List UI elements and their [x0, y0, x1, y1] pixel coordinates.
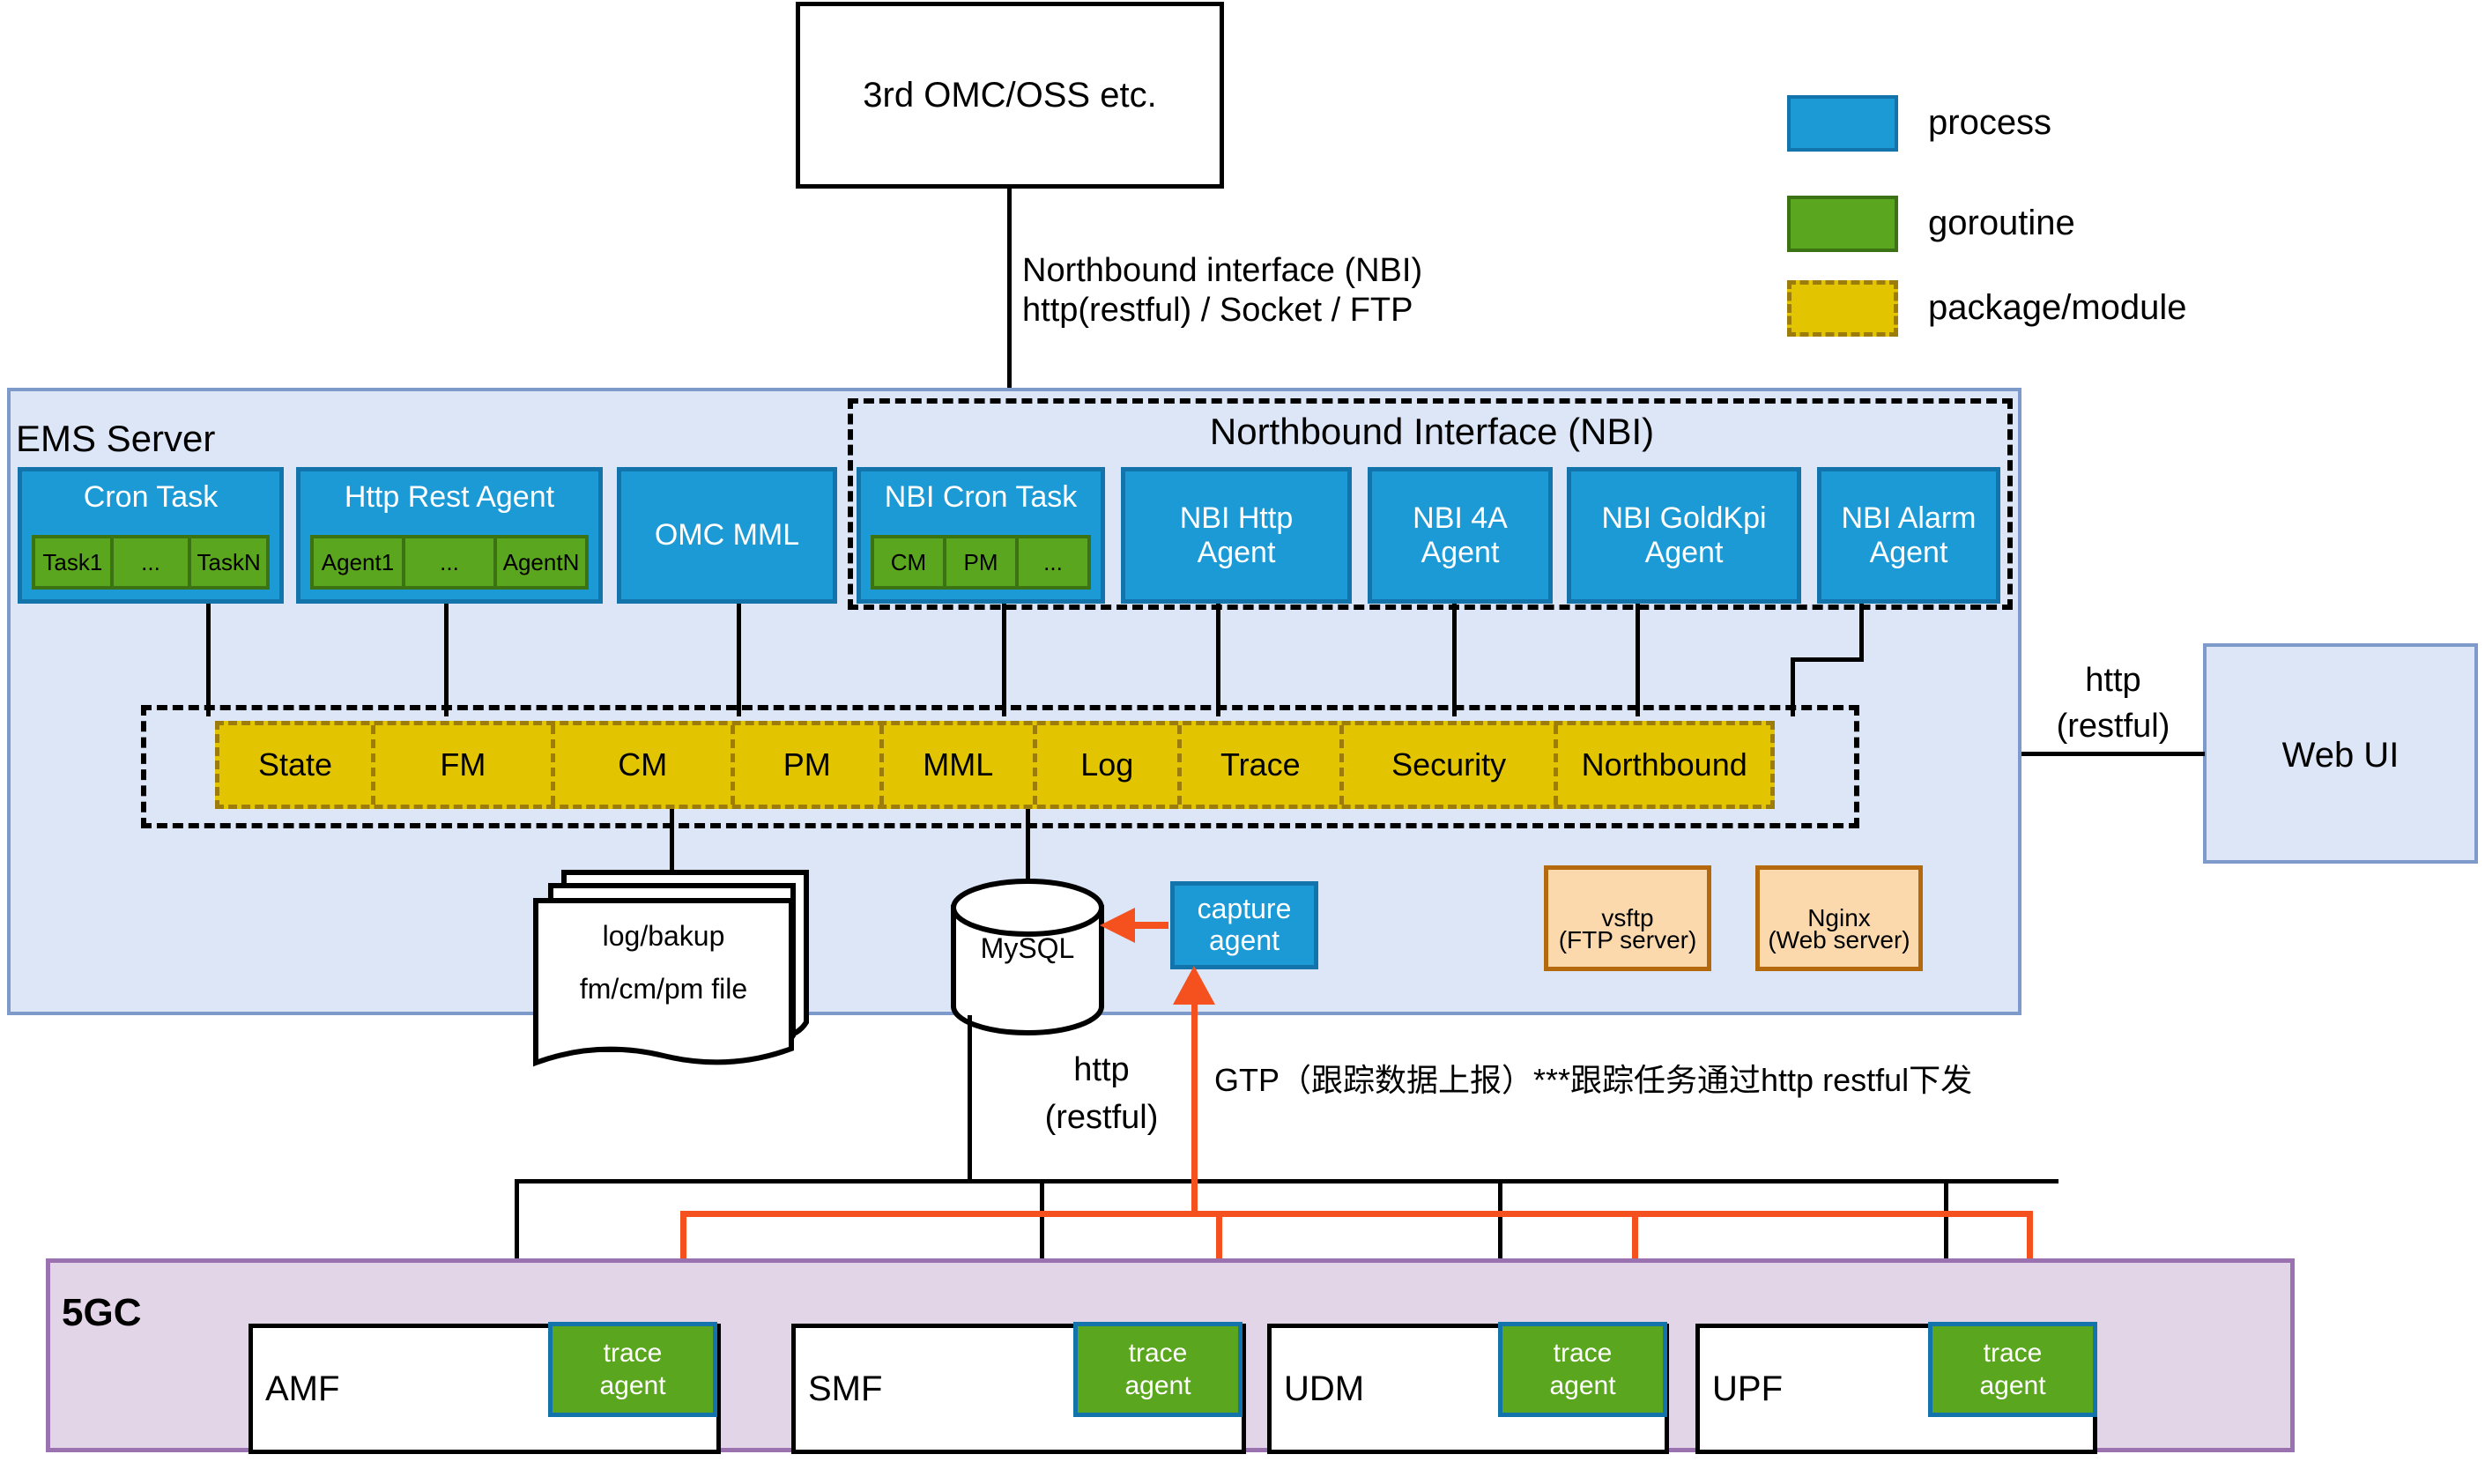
- gtp-note-label: GTP（跟踪数据上报）***跟踪任务通过http restful下发: [1214, 1056, 2096, 1105]
- gtp-bus-horizontal: [680, 1211, 2032, 1217]
- nf-amf-label: AMF: [253, 1369, 339, 1409]
- trace-agent-smf[interactable]: trace agent: [1073, 1322, 1242, 1417]
- trace-agent-udm[interactable]: trace agent: [1498, 1322, 1667, 1417]
- core-network-title: 5GC: [62, 1288, 203, 1338]
- trace-agent-amf[interactable]: trace agent: [548, 1322, 717, 1417]
- trace-agent-upf[interactable]: trace agent: [1928, 1322, 2097, 1417]
- nf-upf-label: UPF: [1700, 1369, 1783, 1409]
- architecture-diagram: 3rd OMC/OSS etc. Northbound interface (N…: [0, 0, 2485, 1484]
- nf-smf-label: SMF: [796, 1369, 882, 1409]
- nf-udm-label: UDM: [1272, 1369, 1364, 1409]
